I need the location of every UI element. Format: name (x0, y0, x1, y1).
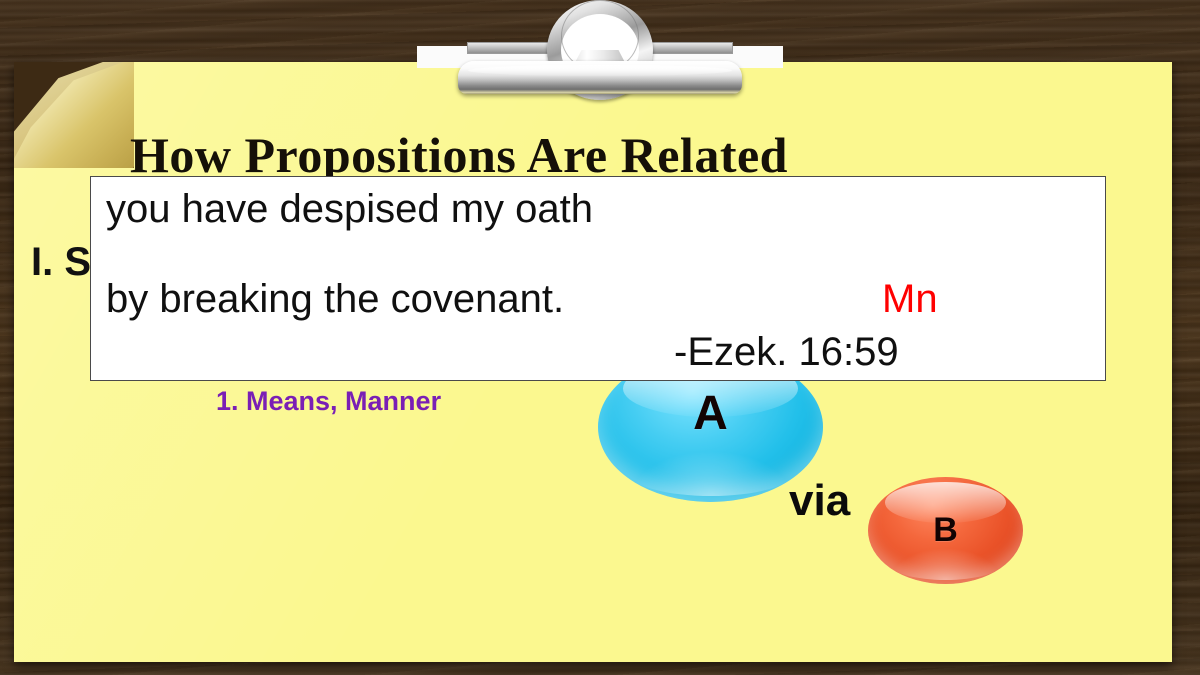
slide-stage: How Propositions Are Related I. S 1. Mea… (0, 0, 1200, 675)
diagram-node-b: B (868, 477, 1023, 584)
quote-tag-mn: Mn (882, 277, 938, 322)
quote-line-2: by breaking the covenant. (106, 277, 564, 322)
quote-overlay-box: you have despised my oath by breaking th… (90, 176, 1106, 381)
section-heading: I. S (31, 240, 91, 285)
bullet-item-1: 1. Means, Manner (216, 386, 441, 417)
page-curl-corner (14, 62, 134, 168)
connector-label: via (789, 476, 850, 526)
quote-reference: -Ezek. 16:59 (674, 330, 899, 375)
node-b-label: B (868, 477, 1023, 584)
clip-body (458, 61, 742, 94)
quote-line-1: you have despised my oath (106, 187, 593, 232)
clipboard-clip (425, 0, 775, 102)
